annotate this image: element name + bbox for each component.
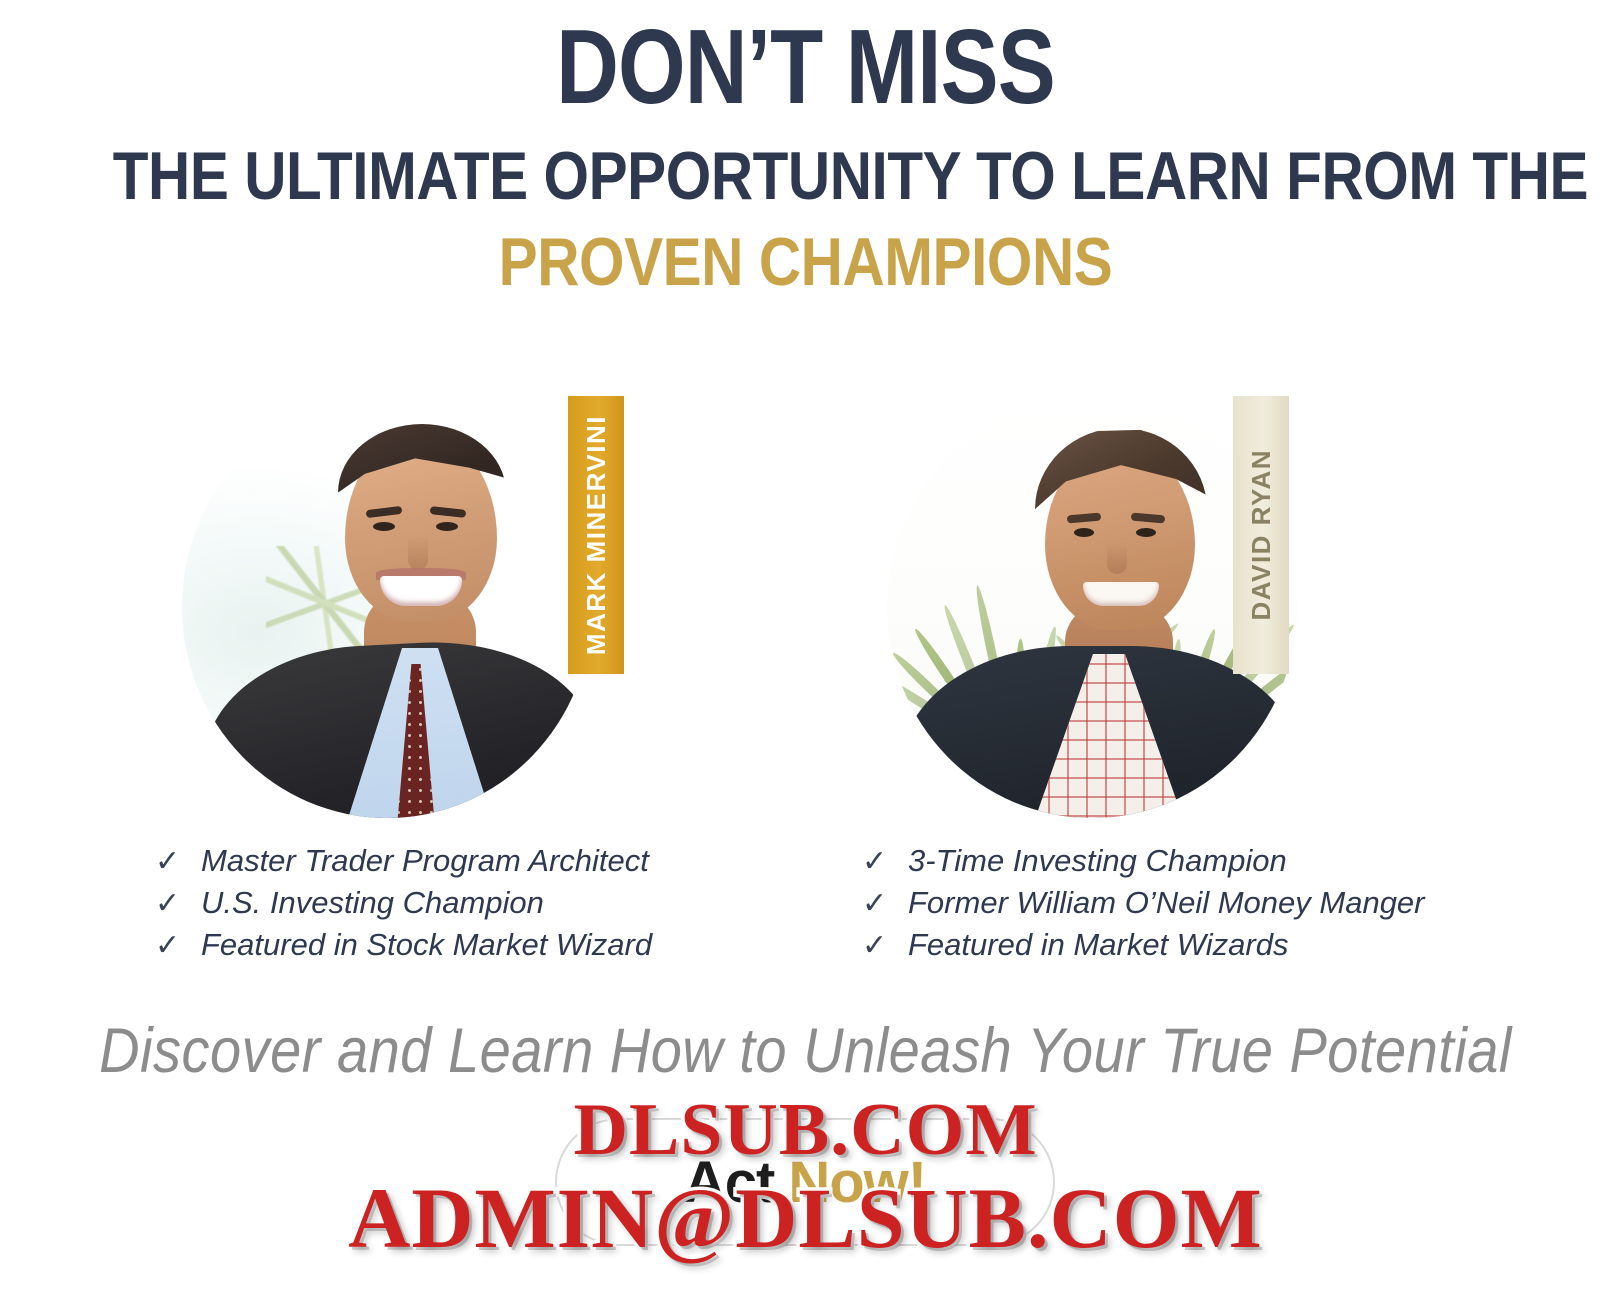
credential-label: 3-Time Investing Champion bbox=[908, 842, 1287, 880]
speaker-card-mark-minervini: MARK MINERVINI bbox=[160, 392, 630, 832]
speaker-name-banner-david-ryan: DAVID RYAN bbox=[1233, 396, 1289, 674]
credential-item: ✓ 3-Time Investing Champion bbox=[862, 842, 1502, 884]
promo-page: DON’T MISS THE ULTIMATE OPPORTUNITY TO L… bbox=[0, 0, 1611, 1291]
speaker-photo-mark-minervini bbox=[182, 396, 592, 818]
act-now-button[interactable]: Act Now! bbox=[555, 1118, 1055, 1246]
credential-item: ✓ Featured in Market Wizards bbox=[862, 926, 1502, 968]
headline-secondary: THE ULTIMATE OPPORTUNITY TO LEARN FROM T… bbox=[113, 138, 1498, 214]
credential-label: Former William O’Neil Money Manger bbox=[908, 884, 1425, 922]
credential-label: Featured in Market Wizards bbox=[908, 926, 1288, 964]
credential-item: ✓ Master Trader Program Architect bbox=[155, 842, 795, 884]
cta-primary-label: Act bbox=[684, 1149, 774, 1216]
credential-label: Featured in Stock Market Wizard bbox=[201, 926, 652, 964]
check-icon: ✓ bbox=[155, 847, 183, 877]
headline-primary: DON’T MISS bbox=[145, 0, 1466, 126]
credentials-list-david-ryan: ✓ 3-Time Investing Champion ✓ Former Wil… bbox=[862, 842, 1502, 968]
check-icon: ✓ bbox=[862, 931, 890, 961]
speaker-photos: MARK MINERVINI bbox=[0, 392, 1611, 832]
headline-block: DON’T MISS THE ULTIMATE OPPORTUNITY TO L… bbox=[0, 0, 1611, 300]
credential-label: Master Trader Program Architect bbox=[201, 842, 649, 880]
check-icon: ✓ bbox=[155, 889, 183, 919]
tagline: Discover and Learn How to Unleash Your T… bbox=[0, 1014, 1611, 1088]
check-icon: ✓ bbox=[862, 847, 890, 877]
check-icon: ✓ bbox=[862, 889, 890, 919]
credential-item: ✓ Featured in Stock Market Wizard bbox=[155, 926, 795, 968]
speaker-name-label: MARK MINERVINI bbox=[581, 415, 612, 655]
headline-accent: PROVEN CHAMPIONS bbox=[113, 224, 1498, 300]
speaker-name-banner-mark-minervini: MARK MINERVINI bbox=[568, 396, 624, 674]
credentials-list-mark-minervini: ✓ Master Trader Program Architect ✓ U.S.… bbox=[155, 842, 795, 968]
speaker-name-label: DAVID RYAN bbox=[1246, 449, 1277, 621]
credential-label: U.S. Investing Champion bbox=[201, 884, 544, 922]
credential-item: ✓ Former William O’Neil Money Manger bbox=[862, 884, 1502, 926]
check-icon: ✓ bbox=[155, 931, 183, 961]
speaker-card-david-ryan: DAVID RYAN bbox=[865, 392, 1335, 832]
credentials-section: ✓ Master Trader Program Architect ✓ U.S.… bbox=[0, 842, 1611, 982]
cta-accent-label: Now! bbox=[788, 1149, 926, 1216]
credential-item: ✓ U.S. Investing Champion bbox=[155, 884, 795, 926]
